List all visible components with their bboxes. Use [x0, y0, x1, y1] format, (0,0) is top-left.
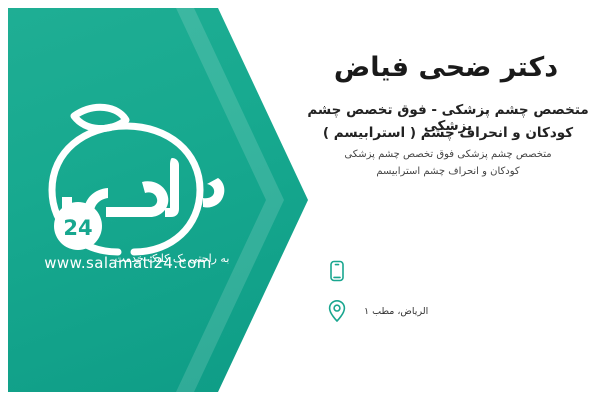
salamati-logo-icon: 24 به راحتی یک کلیک خدمت [22, 86, 252, 276]
logo-badge: 24 [54, 202, 102, 250]
specialty-line-2: کودکان و انحراف چشم ( استرابیسم ) [302, 125, 594, 141]
phone-icon [324, 256, 350, 286]
contact-phone-row [324, 256, 594, 286]
contact-address-row: الریاض، مطب ۱ [324, 296, 594, 326]
location-pin-icon [324, 296, 350, 326]
specialty-subline-2: کودکان و انحراف چشم استرابیسم [302, 166, 594, 177]
doctor-name: دکتر ضحى فياض [302, 52, 590, 83]
info-panel: دکتر ضحى فياض متخصص چشم پزشکی - فوق تخصص… [308, 8, 608, 392]
business-card: 24 به راحتی یک کلیک خدمت www.salamati24.… [8, 8, 608, 392]
specialty-subline-1: متخصص چشم پزشکی فوق تخصص چشم پزشکی [302, 149, 594, 160]
brand-website: www.salamati24.com [28, 254, 228, 272]
contact-address-text: الریاض، مطب ۱ [364, 306, 428, 317]
brand-logo: 24 به راحتی یک کلیک خدمت [22, 86, 252, 276]
svg-text:24: 24 [63, 216, 92, 240]
